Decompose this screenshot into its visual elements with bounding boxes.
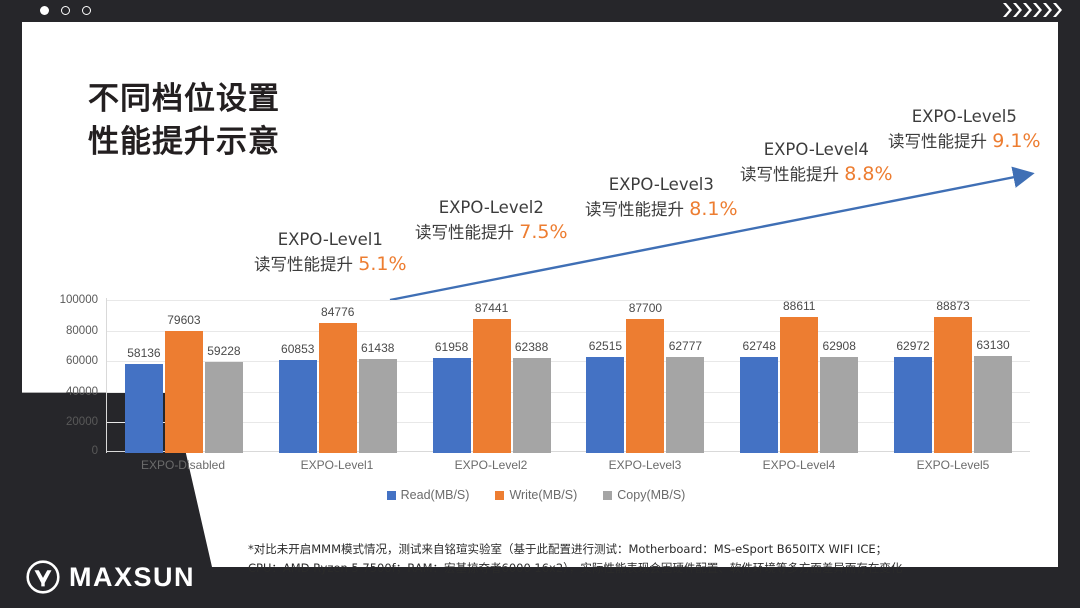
callout-level5-value: 9.1% — [992, 130, 1040, 152]
chevron-right-icon — [1053, 2, 1062, 18]
bar-group: 62748 88611 62908 — [722, 298, 876, 453]
bar-groups: 58136 79603 59228 60853 84776 61438 6195… — [107, 298, 1030, 453]
chart-legend: Read(MB/S) Write(MB/S) Copy(MB/S) — [36, 488, 1036, 502]
bar-value: 87700 — [629, 301, 662, 315]
bar-value: 61958 — [435, 340, 468, 354]
dot-indicator-3[interactable] — [82, 6, 91, 15]
footnote-line-1: *对比未开启MMM模式情况，测试来自铭瑄实验室（基于此配置进行测试：Mother… — [248, 540, 1038, 559]
legend-label-read: Read(MB/S) — [401, 488, 470, 502]
footnote-line-2: CPU：AMD Ryzen 5 7500f；RAM：宏基掠夺者6000 16x2… — [248, 559, 1038, 578]
legend-swatch-write — [495, 491, 504, 500]
y-tick: 100000 — [60, 294, 98, 306]
y-tick: 60000 — [66, 355, 98, 367]
page-title: 不同档位设置 性能提升示意 — [88, 78, 280, 164]
x-tick: EXPO-Disabled — [106, 458, 260, 472]
callout-level4-label: EXPO-Level4 — [740, 138, 893, 161]
bar-value: 62908 — [823, 339, 856, 353]
slide-root: 不同档位设置 性能提升示意 EXPO-Level1 读写性能提升 5.1% EX… — [0, 0, 1080, 608]
callout-level2-label: EXPO-Level2 — [415, 196, 568, 219]
bar-value: 79603 — [167, 313, 200, 327]
bar-read[interactable]: 62972 — [894, 357, 932, 453]
bar-group: 58136 79603 59228 — [107, 298, 261, 453]
bar-copy[interactable]: 63130 — [974, 356, 1012, 453]
callout-level1-value: 5.1% — [358, 253, 406, 275]
x-tick: EXPO-Level3 — [568, 458, 722, 472]
bar-value: 62972 — [896, 339, 929, 353]
chevron-right-icon — [1043, 2, 1052, 18]
bar-copy[interactable]: 59228 — [205, 362, 243, 453]
maxsun-circle-logo-icon — [26, 560, 60, 594]
callout-level2-text: 读写性能提升 7.5% — [415, 219, 568, 246]
callout-level3-label: EXPO-Level3 — [585, 173, 738, 196]
bar-read[interactable]: 61958 — [433, 358, 471, 453]
bar-copy[interactable]: 62777 — [666, 357, 704, 453]
brand-name: MAXSUN — [69, 562, 195, 593]
callout-level5-text: 读写性能提升 9.1% — [888, 128, 1041, 155]
legend-item-copy[interactable]: Copy(MB/S) — [603, 488, 685, 502]
legend-label-copy: Copy(MB/S) — [617, 488, 685, 502]
callout-level2-value: 7.5% — [519, 221, 567, 243]
bar-write[interactable]: 88611 — [780, 317, 818, 453]
callout-level4-value: 8.8% — [844, 163, 892, 185]
bar-read[interactable]: 60853 — [279, 360, 317, 453]
dot-indicator-2[interactable] — [61, 6, 70, 15]
callout-level1-text: 读写性能提升 5.1% — [254, 251, 407, 278]
callout-level3: EXPO-Level3 读写性能提升 8.1% — [585, 173, 738, 223]
x-tick: EXPO-Level2 — [414, 458, 568, 472]
callout-level4-text: 读写性能提升 8.8% — [740, 161, 893, 188]
bar-write[interactable]: 84776 — [319, 323, 357, 453]
callout-level1-label: EXPO-Level1 — [254, 228, 407, 251]
benchmark-bar-chart: 100000 80000 60000 40000 20000 0 58136 7… — [36, 298, 1036, 453]
plot-area: 58136 79603 59228 60853 84776 61438 6195… — [106, 298, 1030, 453]
bar-copy[interactable]: 61438 — [359, 359, 397, 453]
legend-item-write[interactable]: Write(MB/S) — [495, 488, 577, 502]
x-tick: EXPO-Level4 — [722, 458, 876, 472]
bar-group: 60853 84776 61438 — [261, 298, 415, 453]
bar-value: 58136 — [127, 346, 160, 360]
bar-write[interactable]: 88873 — [934, 317, 972, 453]
bar-value: 61438 — [361, 341, 394, 355]
bar-write[interactable]: 87441 — [473, 319, 511, 453]
title-line-1: 不同档位设置 — [88, 78, 280, 121]
callout-level4: EXPO-Level4 读写性能提升 8.8% — [740, 138, 893, 188]
title-line-2: 性能提升示意 — [88, 121, 280, 164]
bar-value: 60853 — [281, 342, 314, 356]
callout-level2: EXPO-Level2 读写性能提升 7.5% — [415, 196, 568, 246]
bar-group: 62972 88873 63130 — [876, 298, 1030, 453]
bar-value: 87441 — [475, 301, 508, 315]
bar-value: 62777 — [669, 339, 702, 353]
legend-swatch-read — [387, 491, 396, 500]
callout-level3-value: 8.1% — [689, 198, 737, 220]
x-tick: EXPO-Level5 — [876, 458, 1030, 472]
bar-value: 88873 — [936, 299, 969, 313]
bar-read[interactable]: 62515 — [586, 357, 624, 453]
chevron-right-icon — [1023, 2, 1032, 18]
bar-copy[interactable]: 62908 — [820, 357, 858, 453]
y-tick: 80000 — [66, 325, 98, 337]
callout-level1: EXPO-Level1 读写性能提升 5.1% — [254, 228, 407, 278]
callout-level5-label: EXPO-Level5 — [888, 105, 1041, 128]
bar-copy[interactable]: 62388 — [513, 358, 551, 453]
legend-item-read[interactable]: Read(MB/S) — [387, 488, 470, 502]
footnote: *对比未开启MMM模式情况，测试来自铭瑄实验室（基于此配置进行测试：Mother… — [248, 540, 1038, 577]
x-axis-category-labels: EXPO-Disabled EXPO-Level1 EXPO-Level2 EX… — [106, 458, 1030, 472]
bar-group: 62515 87700 62777 — [568, 298, 722, 453]
brand-logo: MAXSUN — [26, 560, 195, 594]
bar-value: 88611 — [783, 299, 815, 313]
bar-write[interactable]: 79603 — [165, 331, 203, 453]
y-tick: 0 — [92, 445, 98, 457]
x-tick: EXPO-Level1 — [260, 458, 414, 472]
dot-indicator-1[interactable] — [40, 6, 49, 15]
bar-write[interactable]: 87700 — [626, 319, 664, 453]
chevron-right-icon — [1033, 2, 1042, 18]
callout-level5: EXPO-Level5 读写性能提升 9.1% — [888, 105, 1041, 155]
bar-read[interactable]: 62748 — [740, 357, 778, 453]
legend-label-write: Write(MB/S) — [509, 488, 577, 502]
bar-value: 63130 — [976, 338, 1009, 352]
chevron-right-icon — [1003, 2, 1012, 18]
top-bar — [0, 0, 1080, 22]
y-tick: 40000 — [66, 386, 98, 398]
bar-value: 62748 — [743, 339, 776, 353]
bar-value: 59228 — [207, 344, 240, 358]
bar-read[interactable]: 58136 — [125, 364, 163, 453]
bar-value: 84776 — [321, 305, 354, 319]
bar-group: 61958 87441 62388 — [415, 298, 569, 453]
slide-indicator-dots — [40, 6, 91, 15]
y-axis-tick-labels: 100000 80000 60000 40000 20000 0 — [36, 298, 98, 453]
bar-value: 62515 — [589, 339, 622, 353]
chevron-decoration — [1003, 2, 1062, 18]
bar-value: 62388 — [515, 340, 548, 354]
callout-level3-text: 读写性能提升 8.1% — [585, 196, 738, 223]
y-tick: 20000 — [66, 416, 98, 428]
chevron-right-icon — [1013, 2, 1022, 18]
legend-swatch-copy — [603, 491, 612, 500]
